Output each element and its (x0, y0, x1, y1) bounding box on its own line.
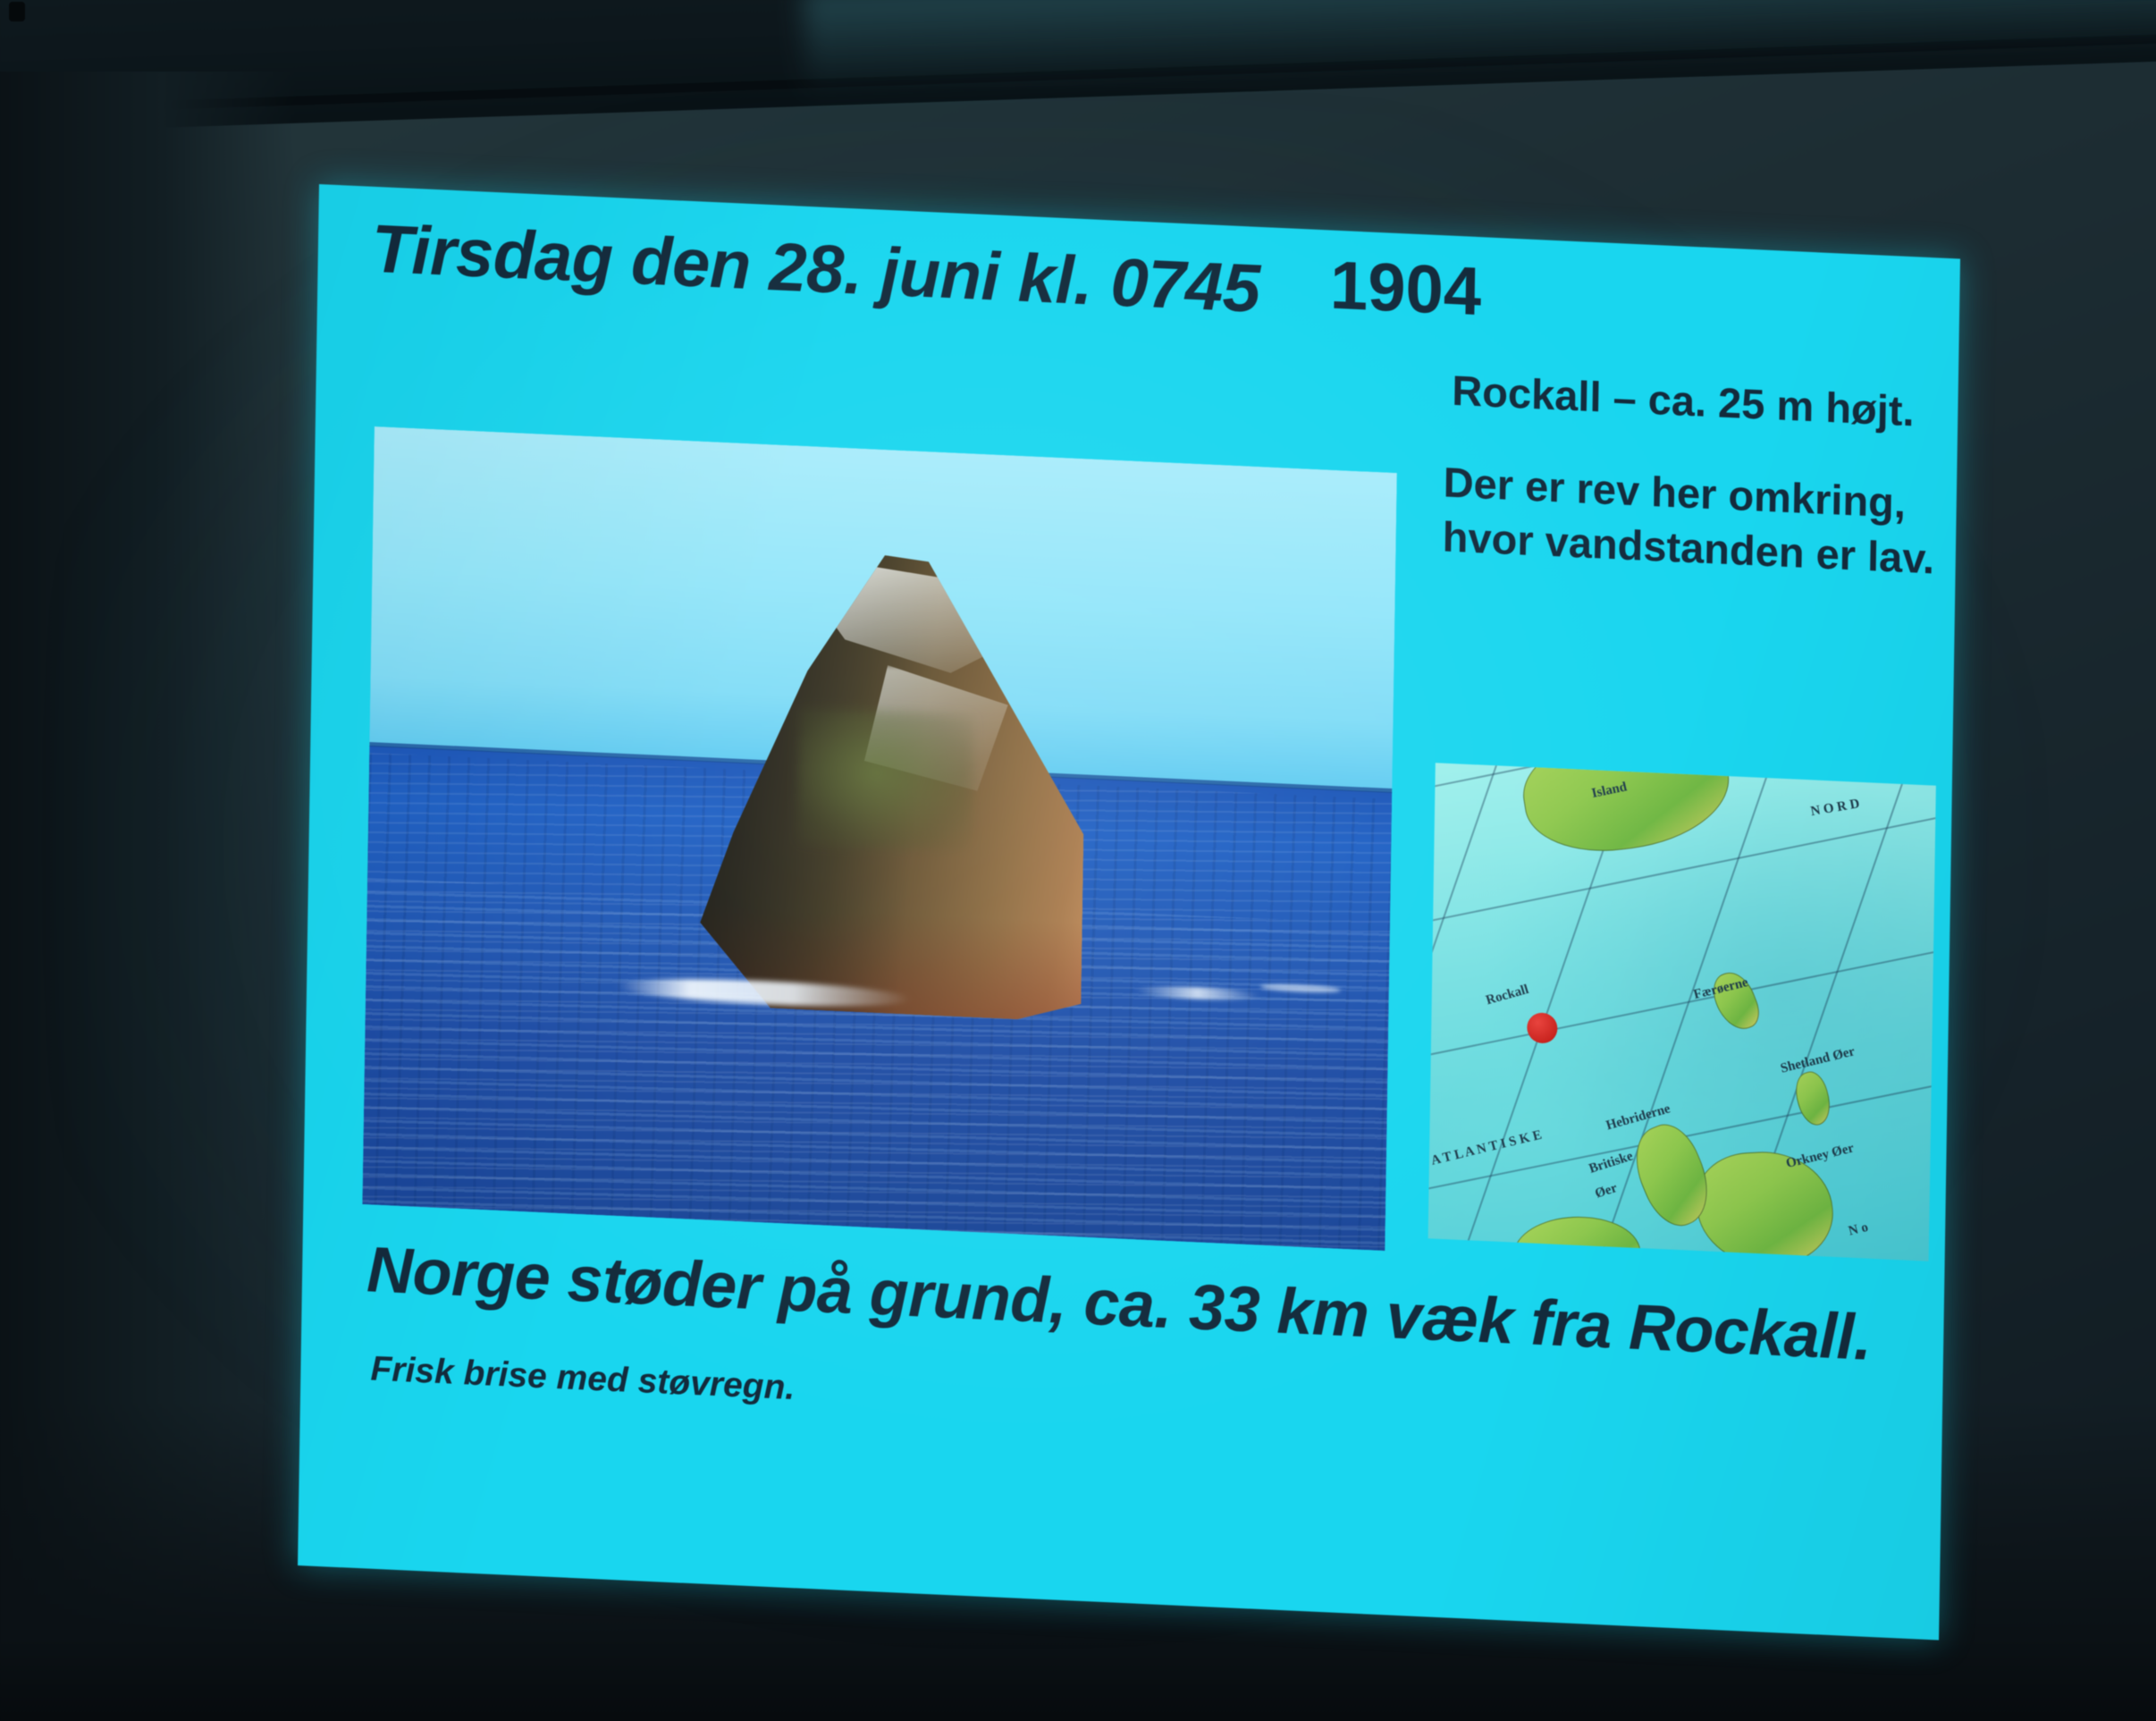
reef-warning-text: Der er rev her omkring, hvor vandstanden… (1442, 455, 1941, 586)
weather-note: Frisk brise med støvregn. (370, 1350, 795, 1409)
slide-right-text-block: Rockall – ca. 25 m højt. Der er rev her … (1442, 362, 1941, 586)
north-atlantic-map: IslandN O R DFærøerneShetland ØerOrkney … (1428, 763, 1936, 1261)
rock-algae-patch (797, 707, 974, 853)
presentation-slide: Tirsdag den 28. juni kl. 0745 1904 Rocka… (298, 184, 1960, 1641)
grounding-caption: Norge støder på grund, ca. 33 km væk fra… (366, 1233, 1923, 1377)
projection-screen: Tirsdag den 28. juni kl. 0745 1904 Rocka… (298, 184, 1960, 1641)
title-date-time: Tirsdag den 28. juni kl. 0745 (371, 210, 1260, 328)
ceiling-speck (9, 2, 25, 21)
title-year: 1904 (1329, 247, 1481, 332)
rockall-photo (362, 426, 1396, 1251)
